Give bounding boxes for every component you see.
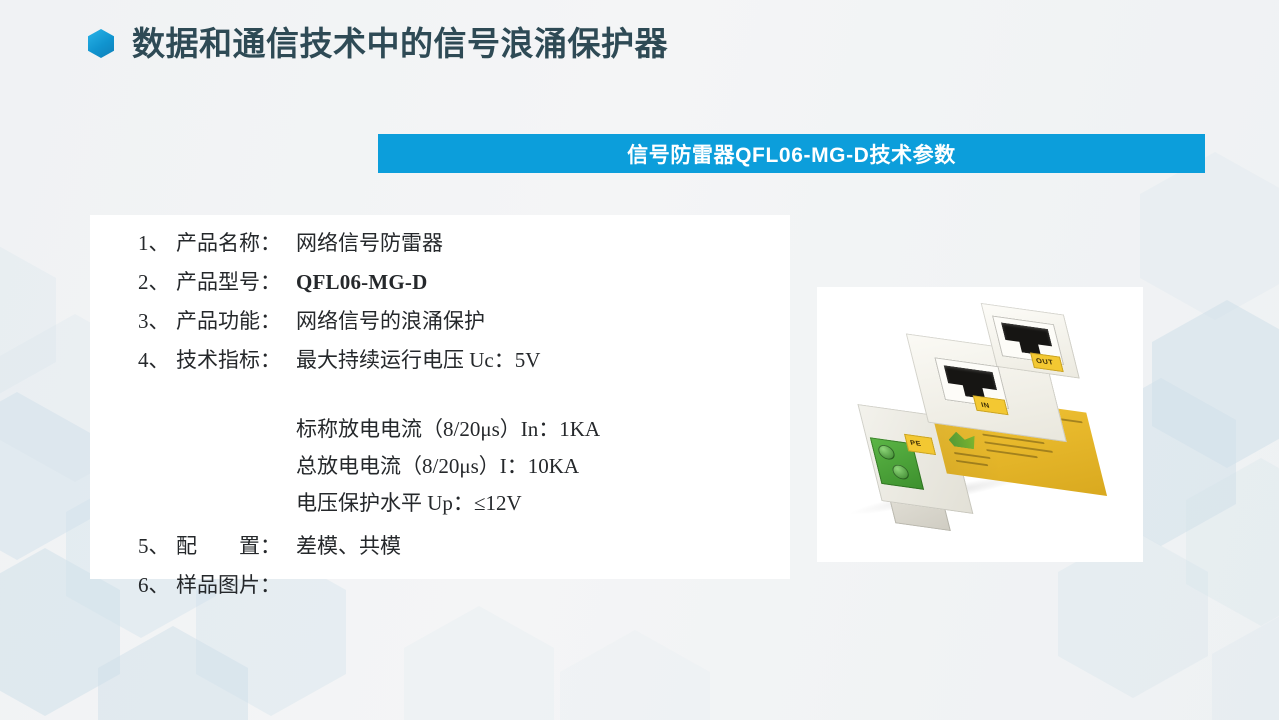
rj45-port-opening bbox=[1001, 322, 1055, 357]
spec-sub-voltage-protection-level: 电压保护水平 Up：≤12V bbox=[138, 493, 780, 530]
page-title: 数据和通信技术中的信号浪涌保护器 bbox=[88, 27, 668, 60]
spec-value: 网络信号的浪涌保护 bbox=[296, 311, 485, 332]
spec-index: 1、 bbox=[138, 233, 176, 254]
spec-index: 4、 bbox=[138, 350, 176, 371]
spec-row-technical-index: 4、 技术指标： 最大持续运行电压 Uc：5V bbox=[138, 350, 780, 389]
spec-row-model: 2、 产品型号： QFL06-MG-D bbox=[138, 272, 780, 311]
spec-row-sample-photo: 6、 样品图片： bbox=[138, 575, 780, 614]
spec-label: 产品型号： bbox=[176, 272, 296, 293]
section-banner: 信号防雷器QFL06-MG-D技术参数 bbox=[378, 134, 1205, 173]
spec-value: 网络信号防雷器 bbox=[296, 233, 443, 254]
rj45-port-opening bbox=[944, 365, 1000, 401]
spec-label: 技术指标： bbox=[176, 350, 296, 371]
spec-row-configuration: 5、 配 置： 差模、共模 bbox=[138, 536, 780, 575]
surge-protector-device-image: PE IN OUT bbox=[842, 306, 1131, 551]
terminal-screw bbox=[891, 464, 911, 481]
spec-sub-total-discharge-current: 总放电电流（8/20μs）I：10KA bbox=[138, 456, 780, 493]
spec-value: QFL06-MG-D bbox=[296, 272, 427, 293]
product-photo-panel: PE IN OUT bbox=[817, 287, 1143, 562]
slide-canvas: 数据和通信技术中的信号浪涌保护器 信号防雷器QFL06-MG-D技术参数 1、 … bbox=[0, 0, 1279, 720]
spec-index: 3、 bbox=[138, 311, 176, 332]
spec-row-function: 3、 产品功能： 网络信号的浪涌保护 bbox=[138, 311, 780, 350]
section-banner-text: 信号防雷器QFL06-MG-D技术参数 bbox=[627, 139, 956, 169]
spec-spacer bbox=[138, 389, 780, 419]
spec-index: 5、 bbox=[138, 536, 176, 557]
spec-value: 最大持续运行电压 Uc：5V bbox=[296, 350, 540, 371]
spec-label: 配 置： bbox=[176, 536, 296, 557]
port-label-text-pe: PE bbox=[909, 440, 922, 448]
spec-sub-nominal-discharge-current: 标称放电电流（8/20μs）In：1KA bbox=[138, 419, 780, 456]
specification-list: 1、 产品名称： 网络信号防雷器 2、 产品型号： QFL06-MG-D 3、 … bbox=[138, 233, 780, 614]
spec-label: 样品图片： bbox=[176, 575, 296, 596]
hexagon-bullet-icon bbox=[88, 29, 114, 58]
terminal-screw bbox=[877, 444, 897, 461]
spec-value: 差模、共模 bbox=[296, 536, 401, 557]
slide-title-text: 数据和通信技术中的信号浪涌保护器 bbox=[132, 27, 668, 60]
spec-label: 产品名称： bbox=[176, 233, 296, 254]
spec-index: 6、 bbox=[138, 575, 176, 596]
product-photo-stage: PE IN OUT bbox=[817, 287, 1143, 562]
spec-index: 2、 bbox=[138, 272, 176, 293]
spec-row-product-name: 1、 产品名称： 网络信号防雷器 bbox=[138, 233, 780, 272]
spec-label: 产品功能： bbox=[176, 311, 296, 332]
specification-panel: 1、 产品名称： 网络信号防雷器 2、 产品型号： QFL06-MG-D 3、 … bbox=[90, 215, 790, 579]
